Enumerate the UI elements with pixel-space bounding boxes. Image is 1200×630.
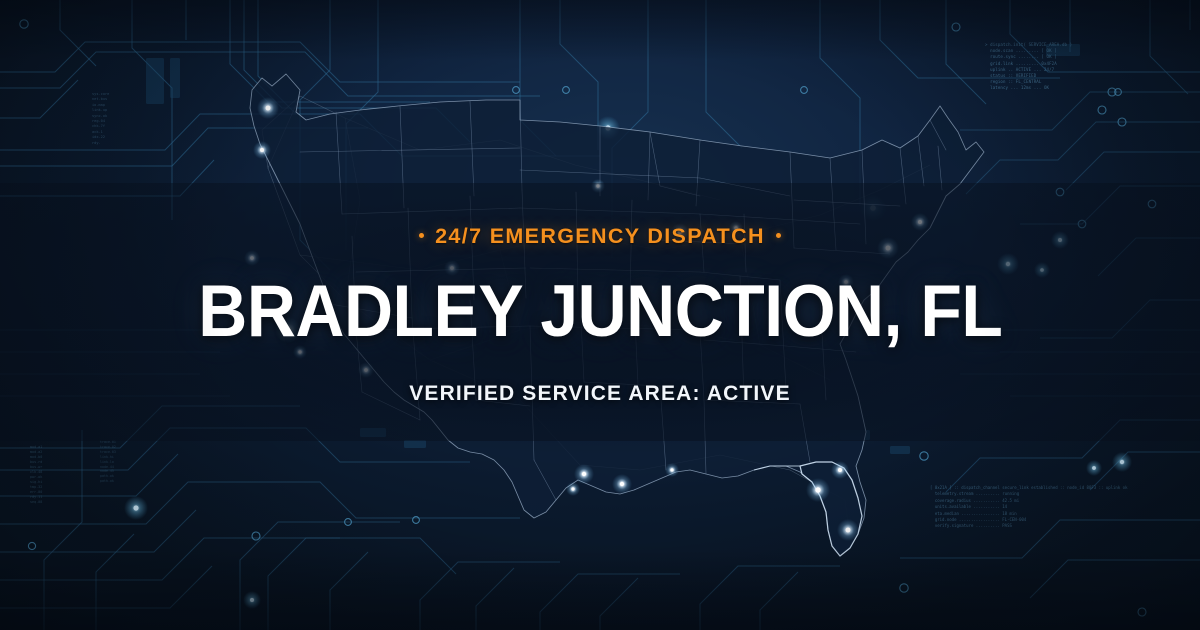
page-title: BRADLEY JUNCTION, FL [198,275,1002,349]
eyebrow-label: 24/7 EMERGENCY DISPATCH [435,224,765,248]
banner-content: 24/7 EMERGENCY DISPATCH BRADLEY JUNCTION… [0,0,1200,630]
bullet-left-icon [419,233,424,238]
eyebrow-text: 24/7 EMERGENCY DISPATCH [408,226,792,248]
location-hero-banner: > dispatch.init( SERVICE_AREA.db ) node.… [0,0,1200,630]
status-badge: VERIFIED SERVICE AREA: ACTIVE [409,383,790,404]
bullet-right-icon [776,233,781,238]
